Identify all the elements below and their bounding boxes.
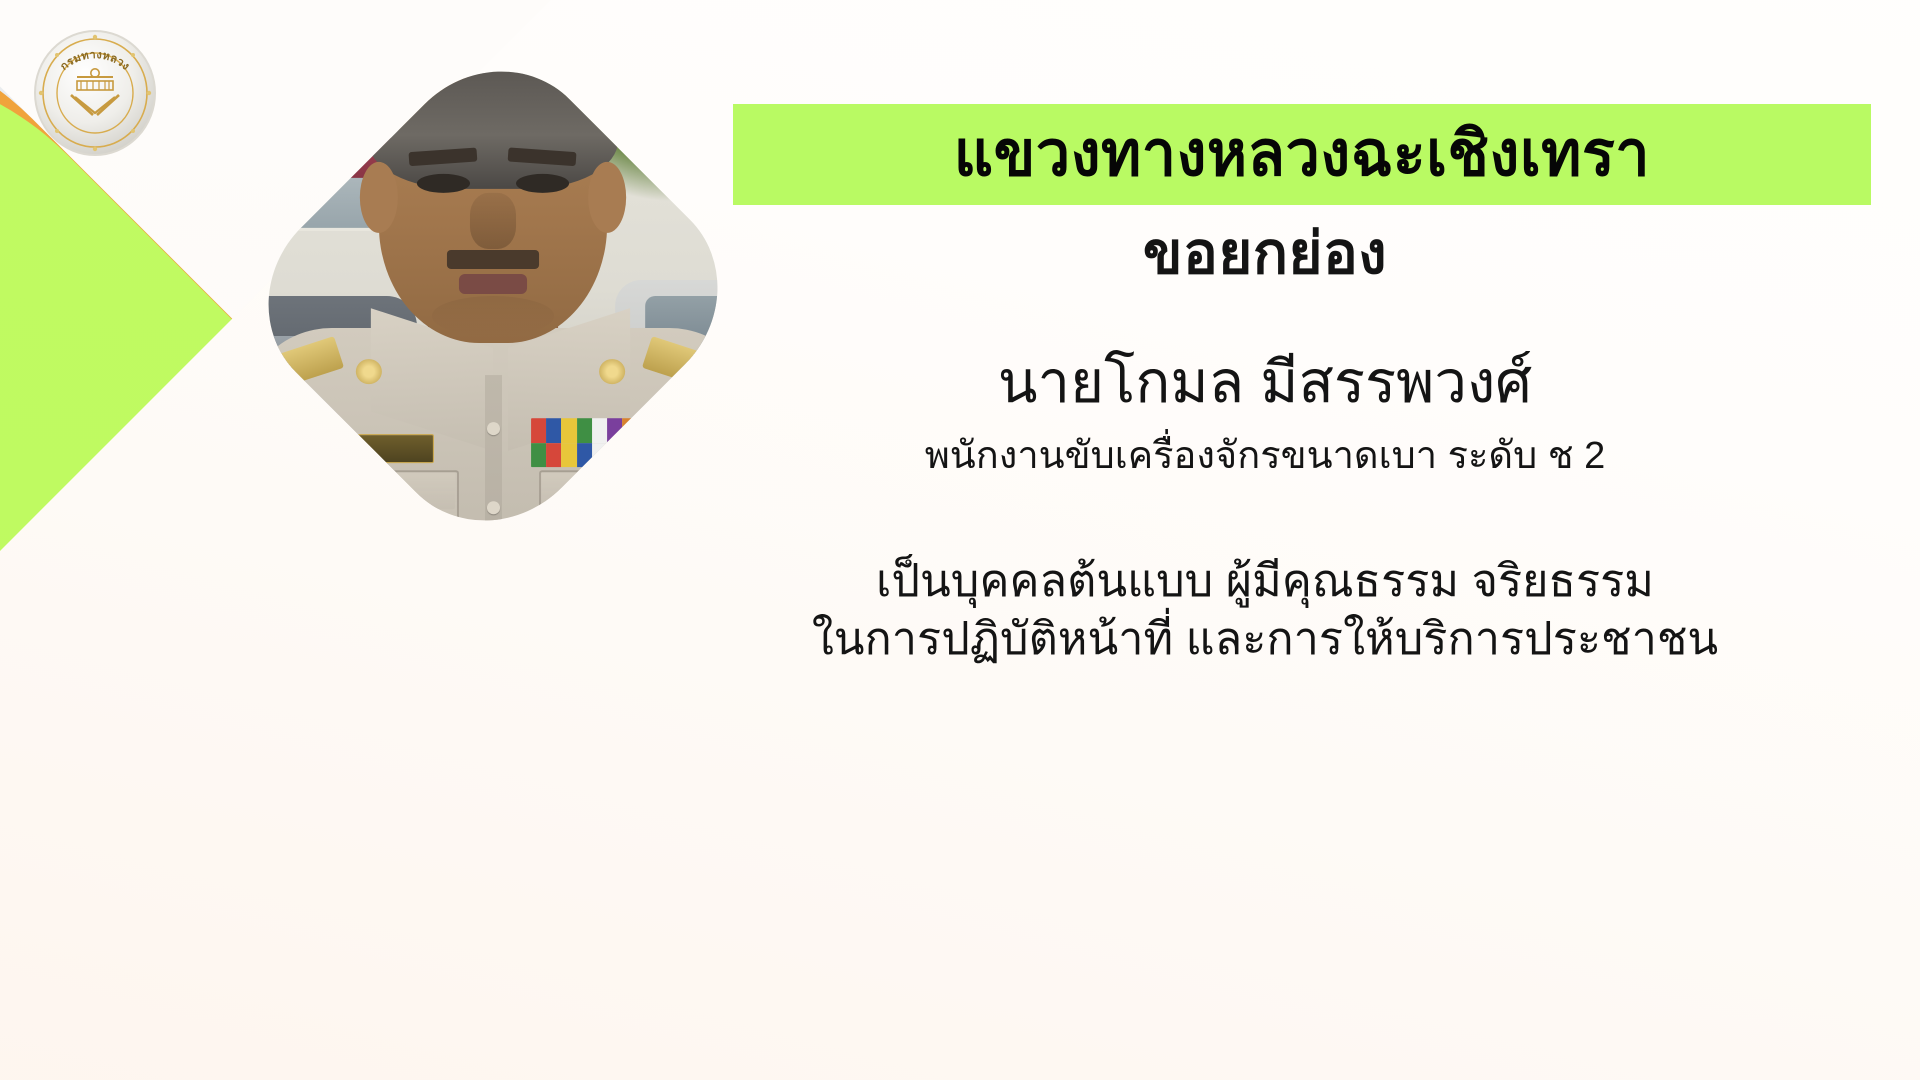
recognition-description: เป็นบุคคลต้นแบบ ผู้มีคุณธรรม จริยธรรม ใน… xyxy=(620,552,1910,667)
poster-canvas: กรมทางหลวง xyxy=(0,0,1920,1080)
organization-banner: แขวงทางหลวงฉะเชิงเทรา xyxy=(733,104,1871,205)
honoree-position: พนักงานขับเครื่องจักรขนาดเบา ระดับ ช 2 xyxy=(620,434,1910,480)
description-line-1: เป็นบุคคลต้นแบบ ผู้มีคุณธรรม จริยธรรม xyxy=(620,552,1910,610)
department-of-highways-logo-icon: กรมทางหลวง xyxy=(31,27,159,159)
praise-heading: ขอยกย่อง xyxy=(620,222,1910,286)
recognition-content: ขอยกย่อง นายโกมล มีสรรพวงศ์ พนักงานขับเค… xyxy=(620,222,1910,667)
honoree-name: นายโกมล มีสรรพวงศ์ xyxy=(620,350,1910,417)
description-line-2: ในการปฏิบัติหน้าที่ และการให้บริการประชา… xyxy=(620,610,1910,668)
organization-name: แขวงทางหลวงฉะเชิงเทรา xyxy=(954,123,1650,186)
